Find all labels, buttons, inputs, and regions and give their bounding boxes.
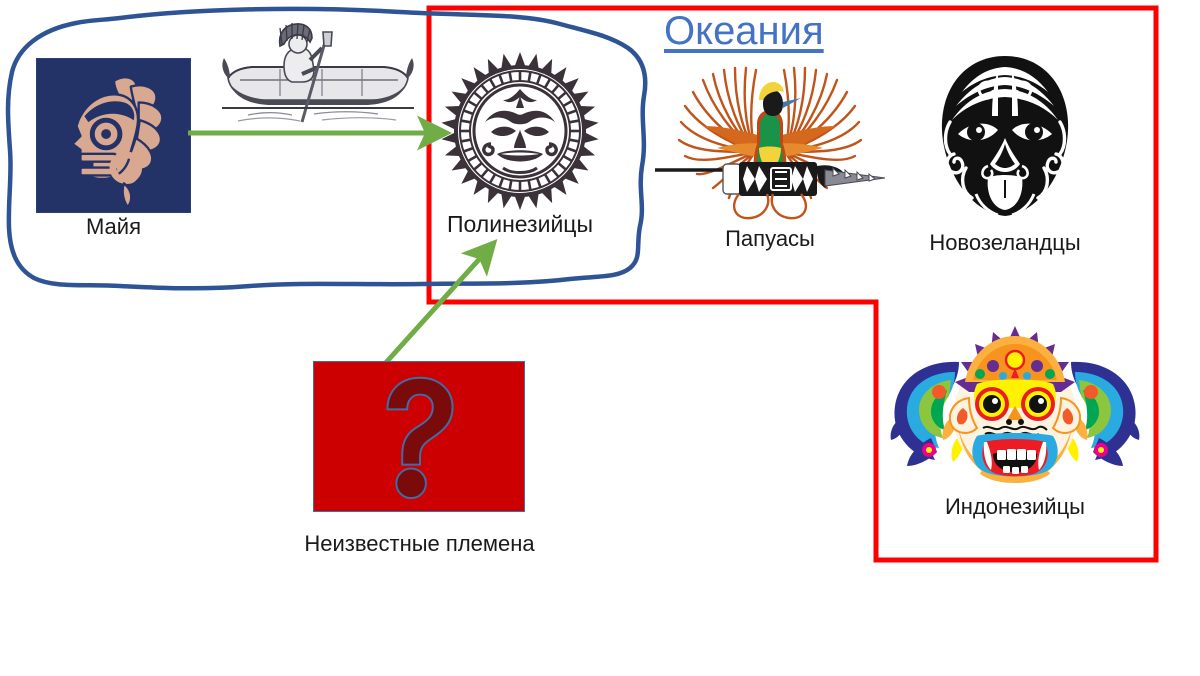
node-unknown-tribes-image[interactable]	[313, 361, 525, 512]
balinese-barong-mask-icon	[885, 320, 1145, 495]
question-mark-icon	[314, 362, 524, 511]
slide-canvas: Майя	[0, 0, 1200, 676]
node-indonesians-image[interactable]	[885, 320, 1145, 495]
unknown-to-polynesians-arrow	[382, 245, 492, 367]
label-unknown-tribes: Неизвестные племена	[253, 533, 586, 555]
label-indonesians: Индонезийцы	[905, 496, 1125, 518]
